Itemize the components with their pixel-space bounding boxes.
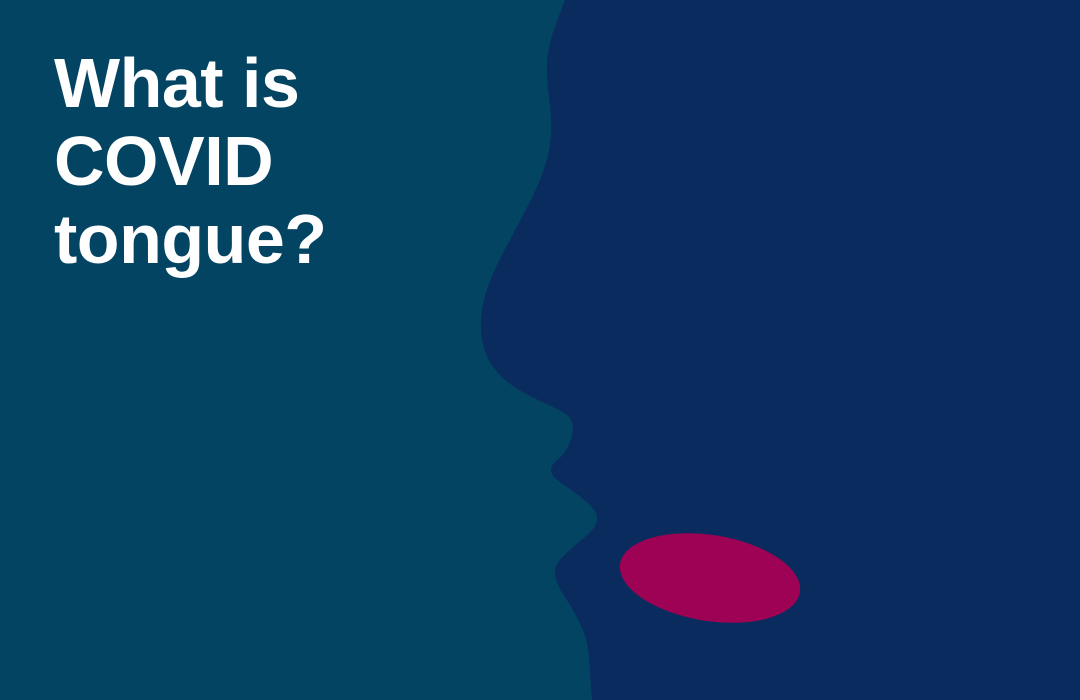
page-title: What is COVID tongue? <box>54 44 524 278</box>
graphic-canvas: What is COVID tongue? <box>0 0 1080 700</box>
